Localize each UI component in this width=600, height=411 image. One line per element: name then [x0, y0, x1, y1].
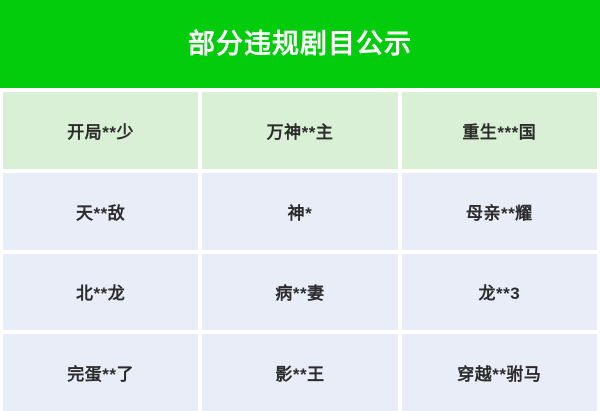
table-row: 天**敌 神* 母亲**耀 [3, 173, 597, 250]
announcement-page: 部分违规剧目公示 开局**少 万神**主 重生***国 天**敌 神* 母亲**… [0, 0, 600, 411]
table-cell: 穿越**驸马 [402, 334, 597, 411]
header-banner: 部分违规剧目公示 [0, 0, 600, 88]
table-cell: 完蛋**了 [3, 334, 198, 411]
table-cell: 影**王 [202, 334, 397, 411]
page-title: 部分违规剧目公示 [188, 31, 412, 58]
table-cell: 开局**少 [3, 92, 198, 169]
table-row: 完蛋**了 影**王 穿越**驸马 [3, 334, 597, 411]
table-cell: 龙**3 [402, 254, 597, 331]
table-cell: 天**敌 [3, 173, 198, 250]
table-cell: 北**龙 [3, 254, 198, 331]
violation-titles-table: 开局**少 万神**主 重生***国 天**敌 神* 母亲**耀 北**龙 病*… [0, 88, 600, 411]
table-cell: 重生***国 [402, 92, 597, 169]
table-cell: 万神**主 [202, 92, 397, 169]
table-cell: 神* [202, 173, 397, 250]
table-row: 北**龙 病**妻 龙**3 [3, 254, 597, 331]
table-cell: 病**妻 [202, 254, 397, 331]
table-row: 开局**少 万神**主 重生***国 [3, 92, 597, 169]
table-cell: 母亲**耀 [402, 173, 597, 250]
